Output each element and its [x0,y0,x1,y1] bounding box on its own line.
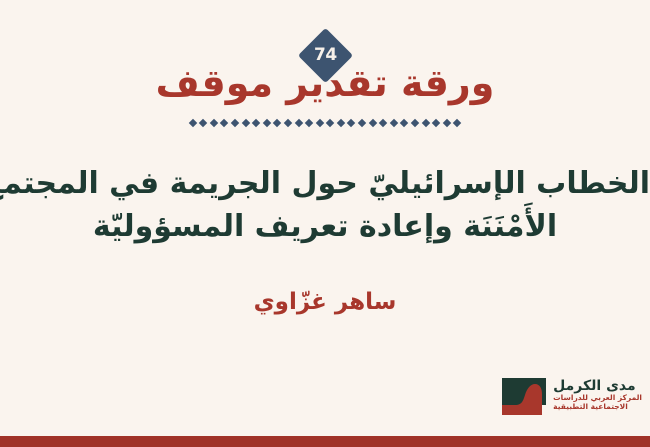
divider-dot [368,119,376,127]
divider-dot [315,119,323,127]
publisher-subtitle-line-2: الاجتماعية التطبيقية [553,403,628,411]
divider-dot [411,119,419,127]
paper-title-line-1: الخطاب الإسرائيليّ حول الجريمة في المجتم… [0,163,650,206]
divider-dot [400,119,408,127]
divider-dot [326,119,334,127]
publisher-logo-mark-icon [502,375,546,415]
series-title: ورقة تقدير موقف [0,60,650,108]
divider-dot [390,119,398,127]
divider-dot [443,119,451,127]
divider-dot [358,119,366,127]
divider-dot [294,119,302,127]
dotted-divider [0,117,650,129]
divider-dot [273,119,281,127]
divider-dot [347,119,355,127]
paper-title-line-2: الأَمْنَنَة وإعادة تعريف المسؤوليّة [0,206,650,249]
divider-dot [284,119,292,127]
divider-dot [421,119,429,127]
publisher-logo-text: مدى الكرمل المركز العربي للدراسات الاجتم… [553,379,642,410]
divider-dot [241,119,249,127]
divider-dot [305,119,313,127]
divider-dot [379,119,387,127]
divider-dot [432,119,440,127]
divider-dot [337,119,345,127]
divider-dot [231,119,239,127]
footer-accent-bar [0,436,650,447]
divider-dot [199,119,207,127]
divider-dot [262,119,270,127]
divider-dot [453,119,461,127]
author-name: ساهر غزّاوي [0,288,650,318]
publisher-logo: مدى الكرمل المركز العربي للدراسات الاجتم… [502,373,642,417]
divider-dot [188,119,196,127]
cover-page: 74 ورقة تقدير موقف الخطاب الإسرائيل [0,0,650,447]
divider-dot [210,119,218,127]
publisher-name: مدى الكرمل [553,379,636,394]
paper-title: الخطاب الإسرائيليّ حول الجريمة في المجتم… [0,163,650,248]
divider-dot [220,119,228,127]
divider-dot [252,119,260,127]
